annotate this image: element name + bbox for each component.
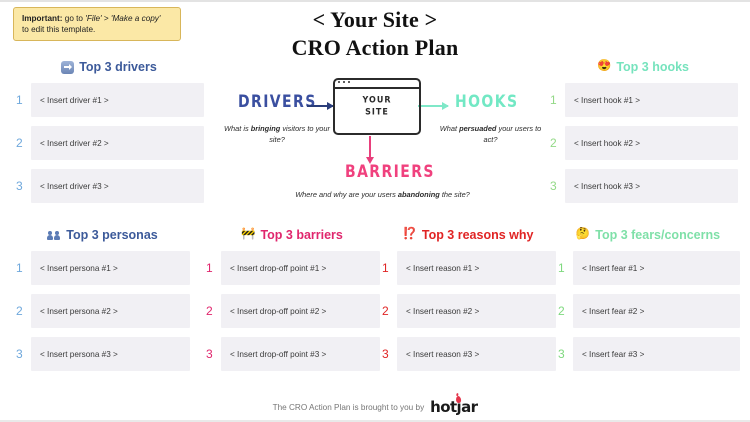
item-input-box[interactable]: < Insert driver #3 > xyxy=(31,169,204,203)
list-item[interactable]: 3 < Insert fear #3 > xyxy=(556,337,740,371)
list-item[interactable]: 3 < Insert persona #3 > xyxy=(14,337,190,371)
item-input-box[interactable]: < Insert fear #3 > xyxy=(573,337,740,371)
list-item[interactable]: 2 < Insert fear #2 > xyxy=(556,294,740,328)
item-number: 1 xyxy=(14,83,31,117)
item-input-box[interactable]: < Insert driver #2 > xyxy=(31,126,204,160)
item-number: 3 xyxy=(548,169,565,203)
item-number: 2 xyxy=(14,126,31,160)
item-number: 2 xyxy=(380,294,397,328)
diagram-label-barriers: BARRIERS xyxy=(345,162,435,182)
thinking-face-icon: 🤔 xyxy=(576,229,590,241)
caption-barriers-c: the site? xyxy=(440,190,470,199)
list-item[interactable]: 1 < Insert hook #1 > xyxy=(548,83,738,117)
item-input-box[interactable]: < Insert reason #2 > xyxy=(397,294,556,328)
item-input-box[interactable]: < Insert drop-off point #2 > xyxy=(221,294,380,328)
item-input-box[interactable]: < Insert reason #3 > xyxy=(397,337,556,371)
top-divider xyxy=(0,0,750,2)
list-item[interactable]: 3 < Insert drop-off point #3 > xyxy=(204,337,380,371)
arrow-right-navy-icon xyxy=(307,105,333,107)
section-header-barriers: 🚧 Top 3 barriers xyxy=(204,228,380,242)
item-number: 1 xyxy=(548,83,565,117)
list-item[interactable]: 1 < Insert drop-off point #1 > xyxy=(204,251,380,285)
item-number: 3 xyxy=(14,337,31,371)
section-header-hooks: 😍 Top 3 hooks xyxy=(548,60,738,74)
item-input-box[interactable]: < Insert persona #1 > xyxy=(31,251,190,285)
section-top-3-barriers: 🚧 Top 3 barriers 1 < Insert drop-off poi… xyxy=(204,228,380,380)
section-top-3-hooks: 😍 Top 3 hooks 1 < Insert hook #1 > 2 < I… xyxy=(548,60,738,212)
browser-titlebar-divider xyxy=(333,87,421,89)
item-input-box[interactable]: < Insert persona #3 > xyxy=(31,337,190,371)
section-title-hooks: Top 3 hooks xyxy=(616,60,689,74)
smiling-face-with-hearts-icon: 😍 xyxy=(597,61,611,73)
caption-barriers-b: abandoning xyxy=(398,190,440,199)
section-header-reasons: ⁉️ Top 3 reasons why xyxy=(380,228,556,242)
caption-drivers-b: bringing xyxy=(251,124,281,133)
item-number: 3 xyxy=(14,169,31,203)
item-number: 2 xyxy=(14,294,31,328)
item-number: 3 xyxy=(204,337,221,371)
section-title-personas: Top 3 personas xyxy=(66,228,157,242)
caption-drivers-a: What is xyxy=(224,124,251,133)
browser-window-illustration: YOUR SITE xyxy=(333,78,421,135)
title-site-line: < Your Site > xyxy=(0,6,750,34)
list-item[interactable]: 2 < Insert hook #2 > xyxy=(548,126,738,160)
item-number: 1 xyxy=(14,251,31,285)
section-header-fears: 🤔 Top 3 fears/concerns xyxy=(556,228,740,242)
title-plan-line: CRO Action Plan xyxy=(0,34,750,62)
list-item[interactable]: 2 < Insert reason #2 > xyxy=(380,294,556,328)
section-title-reasons: Top 3 reasons why xyxy=(422,228,534,242)
section-header-drivers: Top 3 drivers xyxy=(14,60,204,74)
section-top-3-drivers: Top 3 drivers 1 < Insert driver #1 > 2 <… xyxy=(14,60,204,212)
item-number: 2 xyxy=(204,294,221,328)
construction-barrier-icon: 🚧 xyxy=(241,229,255,241)
diagram-caption-hooks: What persuaded your users to act? xyxy=(433,124,548,145)
footer: The CRO Action Plan is brought to you by… xyxy=(0,400,750,415)
item-number: 1 xyxy=(556,251,573,285)
item-input-box[interactable]: < Insert hook #2 > xyxy=(565,126,738,160)
browser-dots-icon xyxy=(338,81,350,83)
section-top-3-fears-concerns: 🤔 Top 3 fears/concerns 1 < Insert fear #… xyxy=(556,228,740,380)
footer-text: The CRO Action Plan is brought to you by xyxy=(273,403,425,412)
item-input-box[interactable]: < Insert drop-off point #1 > xyxy=(221,251,380,285)
section-header-personas: Top 3 personas xyxy=(14,228,190,242)
list-item[interactable]: 2 < Insert persona #2 > xyxy=(14,294,190,328)
diagram-caption-drivers: What is bringing visitors to your site? xyxy=(217,124,337,145)
item-input-box[interactable]: < Insert hook #3 > xyxy=(565,169,738,203)
section-title-drivers: Top 3 drivers xyxy=(79,60,157,74)
item-number: 1 xyxy=(204,251,221,285)
list-item[interactable]: 2 < Insert driver #2 > xyxy=(14,126,204,160)
item-input-box[interactable]: < Insert reason #1 > xyxy=(397,251,556,285)
cro-action-plan-template: Important: go to 'File' > 'Make a copy't… xyxy=(0,0,750,422)
item-input-box[interactable]: < Insert fear #1 > xyxy=(573,251,740,285)
item-input-box[interactable]: < Insert hook #1 > xyxy=(565,83,738,117)
list-item[interactable]: 3 < Insert driver #3 > xyxy=(14,169,204,203)
section-top-3-personas: Top 3 personas 1 < Insert persona #1 > 2… xyxy=(14,228,190,380)
list-item[interactable]: 1 < Insert driver #1 > xyxy=(14,83,204,117)
browser-content-text: YOUR SITE xyxy=(333,95,421,119)
section-title-barriers: Top 3 barriers xyxy=(260,228,342,242)
arrow-down-pink-icon xyxy=(369,136,371,158)
caption-barriers-a: Where and why are your users xyxy=(295,190,398,199)
item-input-box[interactable]: < Insert persona #2 > xyxy=(31,294,190,328)
page-title: < Your Site > CRO Action Plan xyxy=(0,6,750,61)
item-number: 1 xyxy=(380,251,397,285)
hotjar-wordmark: hotjar xyxy=(430,398,477,416)
list-item[interactable]: 1 < Insert reason #1 > xyxy=(380,251,556,285)
list-item[interactable]: 1 < Insert persona #1 > xyxy=(14,251,190,285)
item-number: 2 xyxy=(556,294,573,328)
caption-hooks-b: persuaded xyxy=(459,124,496,133)
hotjar-logo: hotjar xyxy=(430,400,477,415)
exclamation-question-icon: ⁉️ xyxy=(403,229,417,241)
list-item[interactable]: 2 < Insert drop-off point #2 > xyxy=(204,294,380,328)
item-input-box[interactable]: < Insert driver #1 > xyxy=(31,83,204,117)
diagram-label-drivers: DRIVERS xyxy=(238,92,317,112)
item-number: 3 xyxy=(556,337,573,371)
list-item[interactable]: 3 < Insert hook #3 > xyxy=(548,169,738,203)
list-item[interactable]: 1 < Insert fear #1 > xyxy=(556,251,740,285)
item-input-box[interactable]: < Insert drop-off point #3 > xyxy=(221,337,380,371)
caption-hooks-a: What xyxy=(440,124,459,133)
list-item[interactable]: 3 < Insert reason #3 > xyxy=(380,337,556,371)
cro-flow-diagram: DRIVERS HOOKS BARRIERS YOUR SITE What is… xyxy=(215,80,545,220)
item-input-box[interactable]: < Insert fear #2 > xyxy=(573,294,740,328)
site-text-line1: YOUR xyxy=(363,95,392,105)
section-title-fears: Top 3 fears/concerns xyxy=(595,228,720,242)
blue-arrow-square-icon xyxy=(61,61,74,74)
site-text-line2: SITE xyxy=(365,107,389,117)
two-people-icon xyxy=(46,229,61,241)
item-number: 3 xyxy=(380,337,397,371)
item-number: 2 xyxy=(548,126,565,160)
diagram-caption-barriers: Where and why are your users abandoning … xyxy=(295,190,470,201)
diagram-label-hooks: HOOKS xyxy=(455,92,518,112)
section-top-3-reasons-why: ⁉️ Top 3 reasons why 1 < Insert reason #… xyxy=(380,228,556,380)
arrow-right-mint-icon xyxy=(418,105,448,107)
flame-dot-icon xyxy=(455,395,461,403)
